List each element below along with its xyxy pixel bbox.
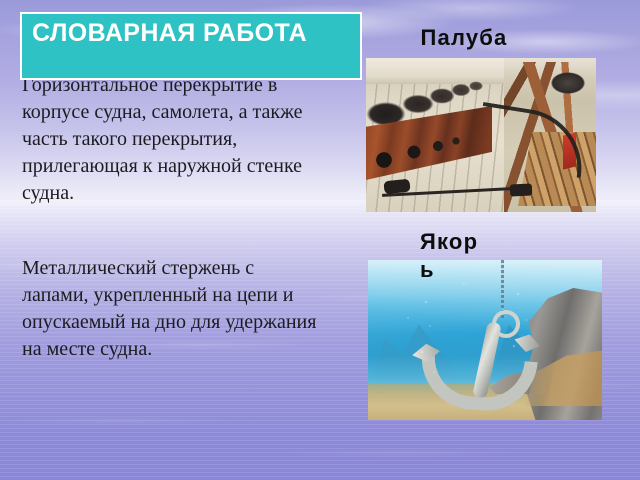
deck-machinery	[546, 68, 590, 98]
photo-deck	[366, 58, 596, 212]
photo-label-deck: Палуба	[404, 24, 524, 52]
definition-text-deck: Горизонтальное перекрытие в корпусе судн…	[22, 72, 344, 207]
definition-text-anchor: Металлический стержень с лапами, укрепле…	[22, 255, 322, 363]
presentation-slide: СЛОВАРНАЯ РАБОТА Горизонтальное перекрыт…	[0, 0, 640, 480]
deck-cannon-wheels	[368, 130, 488, 178]
photo-label-anchor: Якор ь	[420, 228, 488, 284]
photo-label-anchor-line2: ь	[420, 257, 435, 282]
deck-tools	[382, 178, 558, 206]
photo-anchor	[368, 260, 602, 420]
slide-title: СЛОВАРНАЯ РАБОТА	[32, 19, 362, 48]
photo-label-anchor-line1: Якор	[420, 229, 478, 254]
deck-tool-head	[383, 179, 410, 195]
slide-title-banner: СЛОВАРНАЯ РАБОТА	[20, 12, 362, 80]
